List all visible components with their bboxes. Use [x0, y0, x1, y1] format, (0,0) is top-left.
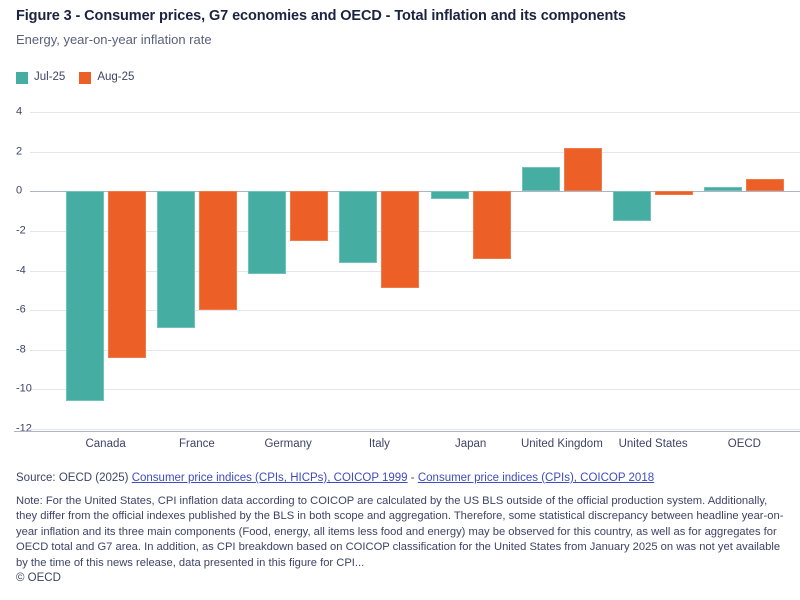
bar-united-states-jul-25[interactable] — [613, 191, 651, 221]
bar-united-states-aug-25[interactable] — [655, 191, 693, 195]
source-prefix: Source: OECD (2025) — [16, 472, 129, 484]
y-axis-tick-label: -12 — [16, 424, 32, 435]
source-link-coicop-2018[interactable]: Consumer price indices (CPIs), COICOP 20… — [418, 472, 654, 484]
bar-germany-jul-25[interactable] — [248, 191, 286, 274]
note-text: Note: For the United States, CPI inflati… — [16, 494, 788, 571]
bar-oecd-jul-25[interactable] — [704, 187, 742, 191]
legend-item-label: Aug-25 — [97, 72, 134, 84]
bar-germany-aug-25[interactable] — [290, 191, 328, 241]
x-axis-tick-label: United Kingdom — [521, 438, 603, 450]
y-axis-tick-label: 0 — [16, 186, 22, 197]
bar-italy-aug-25[interactable] — [381, 191, 419, 288]
legend-item-aug-25[interactable]: Aug-25 — [79, 72, 134, 84]
x-axis-tick-label: Japan — [455, 438, 486, 450]
y-axis-tick-label: -10 — [16, 384, 32, 395]
x-axis-tick-label: United States — [619, 438, 688, 450]
x-axis-tick-label: OECD — [728, 438, 761, 450]
y-axis-tick-label: -6 — [16, 305, 26, 316]
y-axis-tick-label: 2 — [16, 146, 22, 157]
source-line: Source: OECD (2025) Consumer price indic… — [16, 472, 654, 484]
legend-item-label: Jul-25 — [34, 72, 65, 84]
bar-france-jul-25[interactable] — [157, 191, 195, 328]
y-axis-tick-label: -2 — [16, 225, 26, 236]
x-axis-tick-label: Germany — [264, 438, 311, 450]
legend-item-jul-25[interactable]: Jul-25 — [16, 72, 65, 84]
bar-united-kingdom-aug-25[interactable] — [564, 148, 602, 192]
source-separator: - — [411, 472, 415, 484]
bar-japan-jul-25[interactable] — [431, 191, 469, 199]
copyright-text: © OECD — [16, 572, 61, 584]
gridline — [30, 112, 800, 113]
gridline — [30, 152, 800, 153]
legend-swatch-icon — [16, 72, 28, 84]
bar-france-aug-25[interactable] — [199, 191, 237, 310]
x-axis-line — [14, 431, 800, 432]
bar-united-kingdom-jul-25[interactable] — [522, 167, 560, 191]
plot-area: 420-2-4-6-8-10-12CanadaFranceGermanyItal… — [0, 100, 800, 436]
gridline — [30, 389, 800, 390]
chart-page: Figure 3 - Consumer prices, G7 economies… — [0, 0, 800, 600]
bar-japan-aug-25[interactable] — [473, 191, 511, 258]
y-axis-tick-label: -4 — [16, 265, 26, 276]
bar-italy-jul-25[interactable] — [339, 191, 377, 262]
x-axis-tick-label: France — [179, 438, 215, 450]
bar-oecd-aug-25[interactable] — [746, 179, 784, 191]
chart-legend: Jul-25Aug-25 — [16, 72, 134, 84]
page-title: Figure 3 - Consumer prices, G7 economies… — [16, 8, 626, 24]
x-axis-tick-label: Italy — [369, 438, 390, 450]
gridline — [30, 429, 800, 430]
bar-canada-jul-25[interactable] — [66, 191, 104, 401]
source-link-coicop-1999[interactable]: Consumer price indices (CPIs, HICPs), CO… — [132, 472, 408, 484]
y-axis-tick-label: -8 — [16, 344, 26, 355]
x-axis-tick-label: Canada — [85, 438, 125, 450]
y-axis-tick-label: 4 — [16, 107, 22, 118]
page-subtitle: Energy, year-on-year inflation rate — [16, 32, 212, 47]
legend-swatch-icon — [79, 72, 91, 84]
bar-canada-aug-25[interactable] — [108, 191, 146, 357]
